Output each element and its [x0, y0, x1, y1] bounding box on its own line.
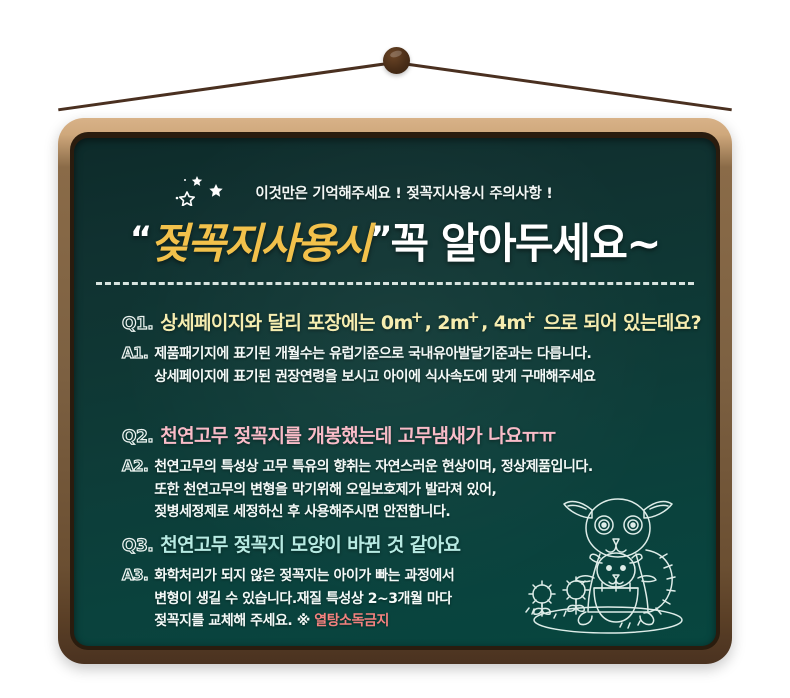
q1-seg-1: 상세페이지와 달리 포장에는 0m [160, 312, 412, 334]
q1-sup-2: + [467, 308, 479, 326]
title-tilde: ~ [626, 219, 660, 268]
dashed-divider [96, 282, 694, 285]
q1-sup-1: + [411, 308, 423, 326]
board-frame: 이것만은 기억해주세요 ! 젖꼭지사용시 주의사항 ! “젖꼭지사용시”꼭 알아… [58, 118, 732, 664]
hanging-cord-right [395, 61, 732, 111]
title-quote-open: “ [130, 219, 150, 259]
a3-line-3-prefix: 젖꼭지를 교체해 주세요. [154, 613, 296, 629]
title-rest: 꼭 알아두세요 [390, 219, 626, 268]
a1-line-1: 제품패기지에 표기된 개월수는 유럽기준으로 국내유아발달기준과는 다릅니다. [154, 346, 591, 362]
answer-tag-2: A2. [122, 457, 148, 475]
answer-row-1: A1. 제품패기지에 표기된 개월수는 유럽기준으로 국내유아발달기준과는 다릅… [122, 343, 692, 388]
question-row-2: Q2. 천연고무 젖꼭지를 개봉했는데 고무냄새가 나요ㅠㅠ [122, 421, 692, 448]
question-tag-2: Q2. [122, 427, 153, 447]
question-text-3: 천연고무 젖꼭지 모양이 바뀐 것 같아요 [160, 530, 460, 557]
chalkboard-surface: 이것만은 기억해주세요 ! 젖꼭지사용시 주의사항 ! “젖꼭지사용시”꼭 알아… [74, 138, 716, 646]
a3-line-1: 화학처리가 되지 않은 젖꼭지는 아이가 빠는 과정에서 [154, 568, 454, 584]
question-text-2: 천연고무 젖꼭지를 개봉했는데 고무냄새가 나요ㅠㅠ [160, 421, 555, 448]
a2-line-2: 또한 천연고무의 변형을 막기위해 오일보호제가 발라져 있어, [154, 482, 496, 498]
question-row-1: Q1. 상세페이지와 달리 포장에는 0m+, 2m+, 4m+ 으로 되어 있… [122, 308, 692, 335]
q1-seg-3: , 4m [481, 312, 525, 334]
title-quote-close: ” [370, 219, 390, 259]
a2-line-1: 천연고무의 특성상 고무 특유의 향취는 자연스러운 현상이며, 정상제품입니다… [154, 459, 592, 475]
q1-sup-3: + [524, 308, 536, 326]
qa-block-1: Q1. 상세페이지와 달리 포장에는 0m+, 2m+, 4m+ 으로 되어 있… [122, 308, 692, 388]
q1-seg-4: 으로 되어 있는데요? [538, 312, 702, 334]
answer-text-3: 화학처리가 되지 않은 젖꼭지는 아이가 빠는 과정에서 변형이 생길 수 있습… [154, 565, 454, 633]
title-highlight: 젖꼭지사용시 [150, 219, 370, 268]
board-subtitle: 이것만은 기억해주세요 ! 젖꼭지사용시 주의사항 ! [74, 182, 716, 203]
a3-warning-text: 열탕소독금지 [314, 613, 389, 629]
q1-seg-2: , 2m [425, 312, 469, 334]
a2-line-3: 젖병세정제로 세정하신 후 사용해주시면 안전합니다. [154, 504, 450, 520]
kangaroo-mother-and-baby-illustration-icon [520, 484, 710, 644]
a3-reference-mark: ※ [297, 613, 315, 629]
answer-tag-1: A1. [122, 344, 148, 362]
a3-line-2: 변형이 생길 수 있습니다.재질 특성상 2~3개월 마다 [154, 591, 451, 607]
signboard-scene: 이것만은 기억해주세요 ! 젖꼭지사용시 주의사항 ! “젖꼭지사용시”꼭 알아… [0, 0, 790, 698]
board-title: “젖꼭지사용시”꼭 알아두세요~ [74, 210, 716, 271]
wall-hook-knob-icon [383, 47, 410, 74]
a1-line-2: 상세페이지에 표기된 권장연령을 보시고 아이에 식사속도에 맞게 구매해주세요 [154, 369, 595, 385]
answer-tag-3: A3. [122, 566, 148, 584]
hanging-cord-left [58, 61, 395, 111]
question-text-1: 상세페이지와 달리 포장에는 0m+, 2m+, 4m+ 으로 되어 있는데요? [160, 308, 701, 335]
answer-text-1: 제품패기지에 표기된 개월수는 유럽기준으로 국내유아발달기준과는 다릅니다. … [154, 343, 595, 388]
question-tag-3: Q3. [122, 536, 153, 556]
question-tag-1: Q1. [122, 314, 153, 334]
